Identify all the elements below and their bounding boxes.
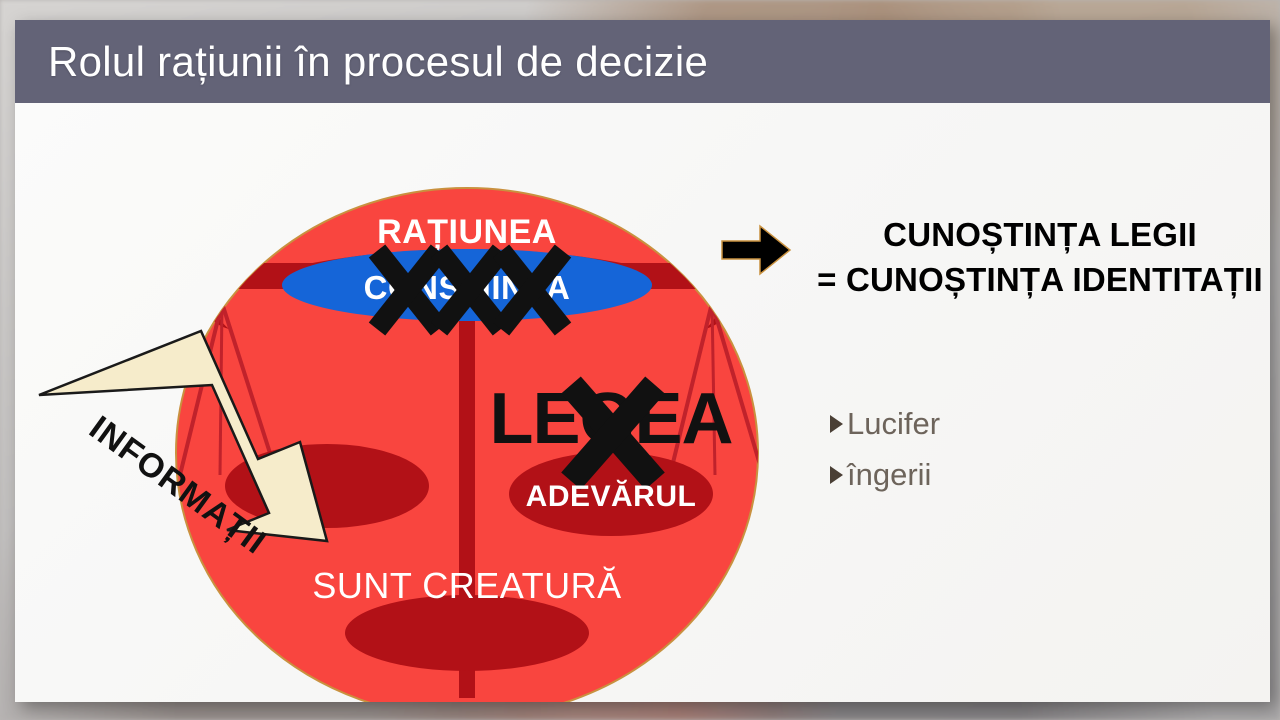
page-title: Rolul rațiunii în procesul de decizie	[15, 38, 708, 86]
right-content-column: CUNOȘTINȚA LEGII = CUNOȘTINȚA IDENTITAȚI…	[705, 213, 1265, 333]
headline-line-1: CUNOȘTINȚA LEGII	[810, 213, 1270, 258]
headline-block: CUNOȘTINȚA LEGII = CUNOȘTINȚA IDENTITAȚI…	[810, 213, 1270, 302]
label-ratiunea: RAȚIUNEA	[377, 213, 557, 251]
list-item-label: îngerii	[847, 459, 931, 490]
slide-title-bar: Rolul rațiunii în procesul de decizie	[15, 20, 1270, 103]
list-item[interactable]: Lucifer	[830, 408, 1210, 439]
slide-content-area: RAȚIUNEA CONȘTIINȚA	[15, 103, 1270, 702]
triangle-right-icon	[830, 415, 843, 433]
right-arrow-icon	[720, 223, 792, 278]
balance-scale-diagram: RAȚIUNEA CONȘTIINȚA	[15, 103, 775, 702]
bullet-list: Lucifer îngerii	[830, 408, 1210, 510]
triangle-right-icon	[830, 466, 843, 484]
list-item-label: Lucifer	[847, 408, 940, 439]
headline-row: CUNOȘTINȚA LEGII = CUNOȘTINȚA IDENTITAȚI…	[705, 213, 1265, 333]
headline-line-2: = CUNOȘTINȚA IDENTITAȚII	[810, 258, 1270, 303]
scale-base	[345, 595, 589, 671]
label-adevarul: ADEVĂRUL	[526, 479, 697, 513]
slide-root: Rolul rațiunii în procesul de decizie	[0, 0, 1280, 720]
list-item[interactable]: îngerii	[830, 459, 1210, 490]
label-sunt-creatura: SUNT CREATURĂ	[312, 565, 621, 606]
slide-card: Rolul rațiunii în procesul de decizie	[15, 20, 1270, 702]
